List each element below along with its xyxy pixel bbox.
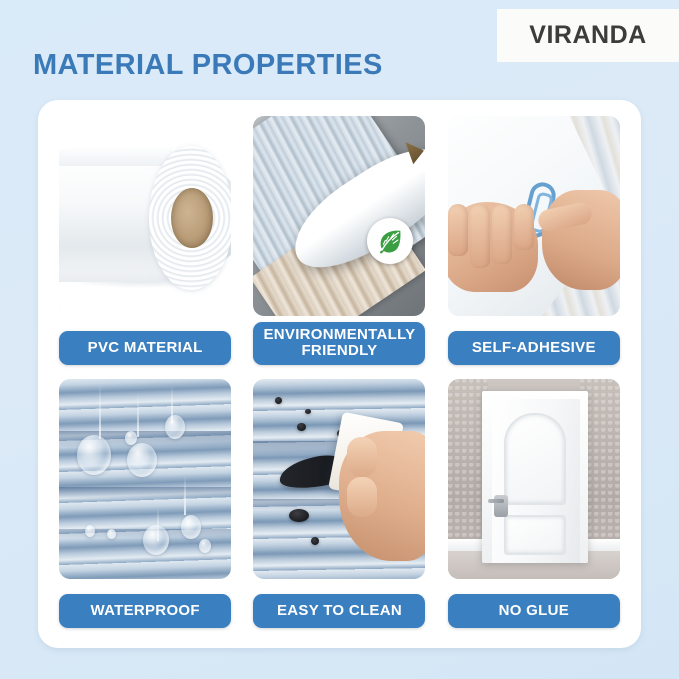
hand-holding-cloth <box>339 431 425 561</box>
feature-card-waterproof[interactable]: WATERPROOF <box>52 379 238 634</box>
easy-clean-illustration <box>253 379 425 579</box>
feature-label-text: ENVIRONMENTALLY <box>263 326 415 343</box>
roll-core-icon <box>171 188 213 248</box>
feature-label-text: WATERPROOF <box>90 602 199 619</box>
feature-image-waterproof <box>59 379 231 579</box>
feature-label-no-glue: NO GLUE <box>448 594 620 628</box>
peel-backing-illustration <box>448 116 620 316</box>
pvc-roll-illustration <box>59 116 231 316</box>
feature-label-waterproof: WATERPROOF <box>59 594 231 628</box>
feature-label-text-line2: FRIENDLY <box>257 343 421 359</box>
right-hand <box>542 190 620 290</box>
feature-label-text: PVC MATERIAL <box>88 339 203 356</box>
door-handle-icon <box>494 495 508 517</box>
features-panel: PVC MATERIAL <box>38 100 641 648</box>
feature-card-environmentally-friendly[interactable]: ENVIRONMENTALLY FRIENDLY <box>246 116 432 371</box>
eco-sheet-illustration <box>253 116 425 316</box>
feature-image-pvc-material <box>59 116 231 316</box>
feature-label-text: EASY TO CLEAN <box>277 602 402 619</box>
feature-card-self-adhesive[interactable]: SELF-ADHESIVE <box>441 116 627 371</box>
feature-label-self-adhesive: SELF-ADHESIVE <box>448 331 620 365</box>
feature-image-environmentally-friendly <box>253 116 425 316</box>
feature-card-easy-to-clean[interactable]: EASY TO CLEAN <box>246 379 432 634</box>
feature-label-easy-to-clean: EASY TO CLEAN <box>253 594 425 628</box>
feature-image-self-adhesive <box>448 116 620 316</box>
feature-label-text: SELF-ADHESIVE <box>472 339 596 356</box>
feature-label-text: NO GLUE <box>499 602 569 619</box>
brand-logo-text: VIRANDA <box>529 21 646 50</box>
brand-logo-box: VIRANDA <box>497 9 679 62</box>
feature-label-environmentally-friendly: ENVIRONMENTALLY FRIENDLY <box>253 322 425 365</box>
features-grid: PVC MATERIAL <box>52 116 627 634</box>
feature-image-no-glue <box>448 379 620 579</box>
feature-card-no-glue[interactable]: NO GLUE <box>441 379 627 634</box>
left-hand <box>448 202 538 292</box>
feature-card-pvc-material[interactable]: PVC MATERIAL <box>52 116 238 371</box>
page-title: MATERIAL PROPERTIES <box>33 49 383 82</box>
feature-label-pvc-material: PVC MATERIAL <box>59 331 231 365</box>
waterproof-illustration <box>59 379 231 579</box>
door-illustration <box>448 379 620 579</box>
door-leaf <box>492 399 580 563</box>
feature-image-easy-to-clean <box>253 379 425 579</box>
